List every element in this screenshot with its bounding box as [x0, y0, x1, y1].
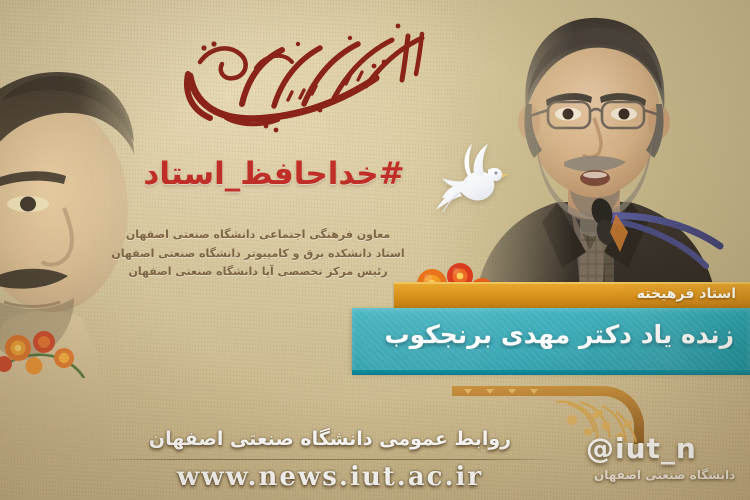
arabic-calligraphy-inna-lillah: إِنَّا لِلَّهِ وَإِنَّا إِلَيْهِ رَاجِعُ…	[170, 14, 440, 134]
hashtag-goodbye-professor: #خداحافظ_استاد	[104, 156, 444, 192]
role-line-3: رئیس مرکز تخصصی آپا دانشگاه صنعتی اصفهان	[108, 263, 408, 282]
teal-banner-strip	[352, 370, 750, 375]
gold-banner: استاد فرهیخته	[394, 282, 750, 308]
role-line-1: معاون فرهنگی اجتماعی دانشگاه صنعتی اصفها…	[108, 226, 408, 245]
footer-divider	[96, 459, 566, 460]
dove-icon	[432, 140, 510, 218]
website-url[interactable]: www.news.iut.ac.ir	[120, 462, 540, 492]
public-relations-credit: روابط عمومی دانشگاه صنعتی اصفهان	[120, 428, 540, 450]
teal-banner: زنده یاد دکتر مهدی برنجکوب	[352, 308, 750, 372]
flower-bouquet-secondary-icon	[0, 300, 86, 378]
role-line-2: استاد دانشکده برق و کامپیوتر دانشگاه صنع…	[108, 245, 408, 264]
social-handle[interactable]: @iut_n	[586, 432, 697, 465]
role-list: معاون فرهنگی اجتماعی دانشگاه صنعتی اصفها…	[108, 226, 408, 282]
memorial-poster: إِنَّا لِلَّهِ وَإِنَّا إِلَيْهِ رَاجِعُ…	[0, 0, 750, 500]
deceased-name-label: زنده یاد دکتر مهدی برنجکوب	[360, 320, 734, 349]
gold-banner-label: استاد فرهیخته	[637, 286, 736, 302]
social-subtitle: دانشگاه صنعتی اصفهان	[594, 468, 735, 482]
